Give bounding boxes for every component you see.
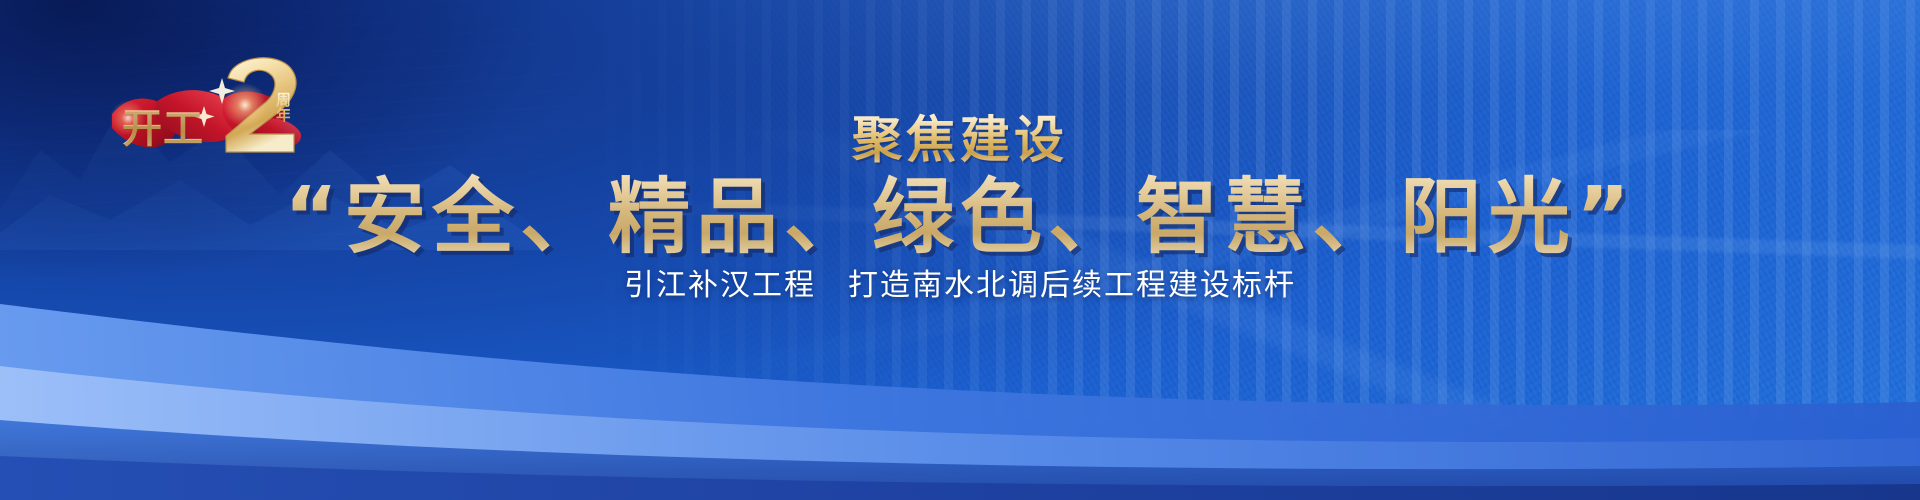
project-anniversary-banner: 开工 周年 聚焦建设 “安全、精品、绿色、智慧、阳光” 引江补汉工程 打造南水北…	[0, 0, 1920, 500]
banner-text-block: 聚焦建设 “安全、精品、绿色、智慧、阳光” 引江补汉工程 打造南水北调后续工程建…	[0, 0, 1920, 500]
banner-subtitle: 引江补汉工程 打造南水北调后续工程建设标杆	[0, 260, 1920, 304]
banner-headline: “安全、精品、绿色、智慧、阳光”	[0, 150, 1920, 269]
